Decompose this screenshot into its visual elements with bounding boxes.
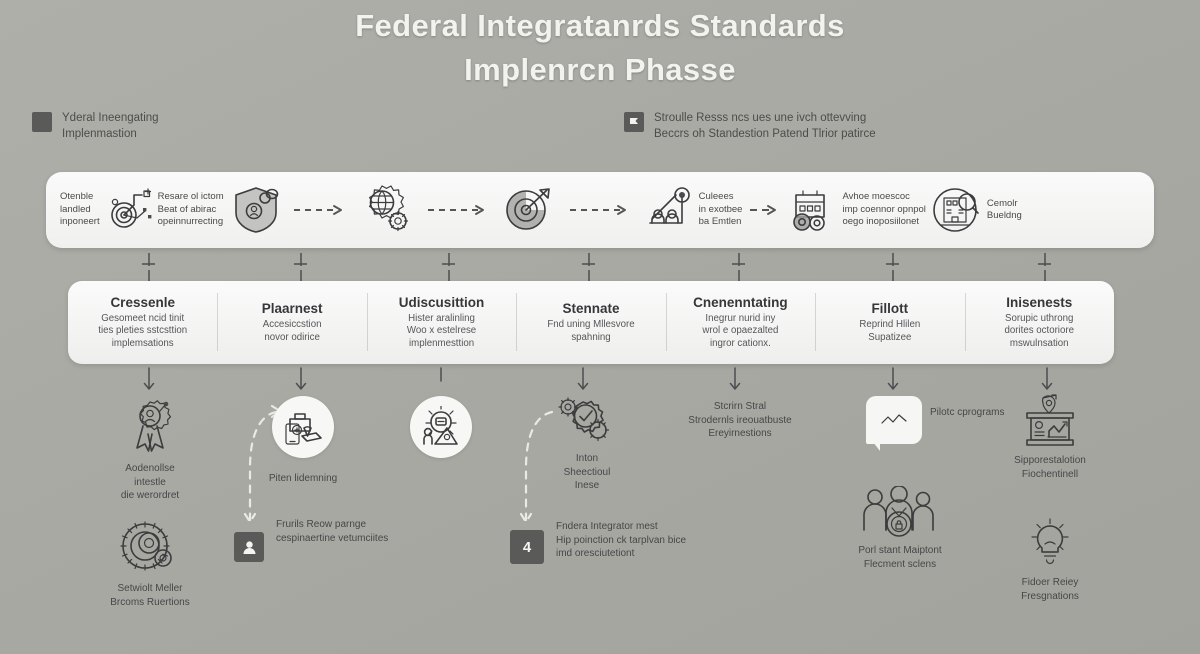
pipeline-label-15: Cemolr Bueldng	[987, 198, 1022, 223]
title-line-1: Federal Integratanrds Standards	[0, 4, 1200, 48]
phase-card[interactable]: Cressenle Gesomeet ncid tinit ties pleti…	[68, 281, 217, 364]
gears-cluster-icon	[100, 520, 200, 578]
chart-board-pin-icon	[998, 392, 1102, 450]
number-badge-icon[interactable]: 4	[510, 530, 544, 564]
node-briefcase[interactable]: Piten lidemning	[268, 396, 338, 486]
node-gearcheck-caption: Inton Sheectioul Inese	[558, 452, 616, 493]
dashed-arrow-icon	[568, 203, 632, 217]
pipeline-label-10: Culeees in exotbee ba Emtlen	[699, 191, 743, 229]
pipeline-icon-calendar-gears	[786, 185, 836, 235]
node-briefcase-caption: Piten lidemning	[268, 472, 338, 486]
title-line-2: Implenrcn Phasse	[0, 48, 1200, 92]
node-four-badge[interactable]: 4 Fndera Integrator mest Hip poinction c…	[510, 524, 686, 564]
phase-card[interactable]: Udiscusittion Hister aralinling Woo x es…	[367, 281, 516, 364]
node-bulb-caption: Fidoer Reiey Fresgnations	[1000, 576, 1100, 603]
tick-connector	[730, 252, 748, 282]
phase-card-desc: Hister aralinling Woo x estelrese implen…	[407, 313, 476, 351]
building-magnifier-icon	[930, 184, 982, 236]
node-four-badge-caption: Fndera Integrator mest Hip poinction ck …	[556, 520, 686, 561]
legend-left-line-1: Yderal Ineengating	[62, 110, 159, 126]
node-chart-pin-caption: Sipporestalotion Fiochentinell	[998, 454, 1102, 481]
pipeline-label-13: Avhoe moescoc imp coennor opnpol oego in…	[842, 191, 925, 229]
phase-card-title: Plaarnest	[262, 301, 323, 316]
phase-card-title: Udiscusittion	[399, 295, 485, 310]
calendar-gears-icon	[786, 185, 836, 235]
node-gears-caption: Setwiolt Meller Brcoms Ruertions	[100, 582, 200, 609]
pipeline-icon-target-dart	[504, 186, 554, 234]
presentation-people-icon	[646, 185, 694, 235]
legend-right: Stroulle Resss ncs ues une ivch ottevvin…	[624, 110, 876, 142]
short-arrow-icon	[748, 203, 780, 217]
node-bubble-caption: Pilotc cprograms	[930, 406, 1004, 420]
square-swatch-icon	[32, 112, 52, 132]
node-gears[interactable]: Setwiolt Meller Brcoms Ruertions	[100, 520, 200, 609]
tick-connector	[580, 252, 598, 282]
phase-card-desc: Reprind Hlilen Supatizee	[859, 319, 920, 344]
node-people-lock-caption: Porl stant Maiptont Flecment sclens	[846, 544, 954, 571]
tick-connector	[140, 252, 158, 282]
down-arrow-icon	[434, 367, 448, 393]
phase-card-desc: Gesomeet ncid tinit ties pleties sstcstt…	[98, 313, 187, 351]
number-badge-value: 4	[523, 539, 531, 556]
tick-connector	[884, 252, 902, 282]
legend-left-text: Yderal Ineengating Implenmastion	[62, 110, 159, 142]
node-bulb[interactable]: Fidoer Reiey Fresgnations	[1000, 518, 1100, 603]
lightbulb-icon	[1000, 518, 1100, 572]
node-award-caption: Aodenollse intestle die werordret	[110, 462, 190, 503]
phase-card[interactable]: Cnenenntating Inegrur nurid iny wrol e o…	[666, 281, 815, 364]
down-arrow-icon	[294, 367, 308, 393]
pipeline-icon-target-network	[104, 187, 156, 233]
globe-gear-icon	[358, 184, 412, 236]
gear-check-icon	[548, 396, 616, 450]
bug-meter-icon	[410, 396, 472, 458]
node-chart-pin[interactable]: Sipporestalotion Fiochentinell	[998, 392, 1102, 481]
briefcase-mobile-icon	[272, 396, 334, 458]
phase-card-desc: Sorupic uthrong dorites octoriore mswuln…	[1005, 313, 1074, 351]
down-arrow-icon	[142, 367, 156, 393]
node-person-badge-caption: Frurils Reow parnge cespinaertine vetumc…	[276, 518, 388, 545]
pipeline-icon-presentation-people	[646, 185, 694, 235]
down-arrow-icon	[728, 367, 742, 393]
phase-card[interactable]: Stennate Fnd uning Mllesvore spahning	[516, 281, 665, 364]
down-arrow-icon	[576, 367, 590, 393]
tick-connector	[440, 252, 458, 282]
phase-card-title: Inisenests	[1006, 295, 1072, 310]
flag-swatch-icon	[624, 112, 644, 132]
phase-card-desc: Fnd uning Mllesvore spahning	[547, 319, 634, 344]
legend-right-line-2: Beccrs oh Standestion Patend Tlrior pati…	[654, 126, 876, 142]
phase-card-title: Fillott	[871, 301, 908, 316]
node-gearcheck[interactable]: Inton Sheectioul Inese	[548, 396, 616, 493]
legend-right-line-1: Stroulle Resss ncs ues une ivch ottevvin…	[654, 110, 876, 126]
tick-connector	[1036, 252, 1054, 282]
shield-gear-people-icon	[230, 185, 282, 235]
people-shield-icon	[846, 486, 954, 540]
legend-left-line-2: Implenmastion	[62, 126, 159, 142]
pipeline-icon-globe-gear	[358, 184, 412, 236]
legend-left: Yderal Ineengating Implenmastion	[32, 110, 159, 142]
phase-card-desc: Accesiccstion novor odirice	[263, 319, 322, 344]
down-arrow-icon	[1040, 367, 1054, 393]
speech-bubble-icon	[866, 396, 922, 444]
node-textblock: Stcrirn Stral Strodernls ireouatbuste Er…	[660, 400, 820, 441]
phase-card[interactable]: Inisenests Sorupic uthrong dorites octor…	[965, 281, 1114, 364]
pipeline-label-text: Cemolr Bueldng	[987, 198, 1022, 223]
pipeline-icon-shield-gear-people	[230, 185, 282, 235]
tick-connector	[292, 252, 310, 282]
node-award[interactable]: Aodenollse intestle die werordret	[110, 396, 190, 503]
down-arrow-icon	[886, 367, 900, 393]
dashed-arrow-icon	[426, 203, 490, 217]
node-people-lock[interactable]: Porl stant Maiptont Flecment sclens	[846, 486, 954, 571]
dashed-arrow-icon	[292, 203, 348, 217]
node-textblock-caption: Stcrirn Stral Strodernls ireouatbuste Er…	[660, 400, 820, 441]
target-network-icon	[104, 187, 156, 233]
node-bugmeter[interactable]	[406, 396, 476, 458]
node-bubble[interactable]: Pilotc cprograms	[866, 396, 1004, 444]
phase-card[interactable]: Fillott Reprind Hlilen Supatizee	[815, 281, 964, 364]
pipeline-label-text: Avhoe moescoc imp coennor opnpol oego in…	[842, 191, 925, 229]
legend-right-text: Stroulle Resss ncs ues une ivch ottevvin…	[654, 110, 876, 142]
phase-card-title: Stennate	[562, 301, 619, 316]
pipeline-label-text: Culeees in exotbee ba Emtlen	[699, 191, 743, 229]
phase-cards-band: Cressenle Gesomeet ncid tinit ties pleti…	[68, 281, 1114, 364]
person-badge-icon	[234, 532, 264, 562]
phase-card-desc: Inegrur nurid iny wrol e opaezalted ingr…	[702, 313, 778, 351]
pipeline-label-0: Otenble landled inponeert	[60, 191, 100, 229]
node-person-badge[interactable]: Frurils Reow parnge cespinaertine vetumc…	[234, 528, 388, 562]
phase-card-title: Cressenle	[110, 295, 175, 310]
pipeline-band: Otenble landled inponeert Resare ol icto…	[46, 172, 1154, 248]
pipeline-icon-building-magnifier	[930, 184, 982, 236]
phase-card[interactable]: Plaarnest Accesiccstion novor odirice	[217, 281, 366, 364]
page-title: Federal Integratanrds Standards Implenrc…	[0, 4, 1200, 92]
award-ribbon-icon	[110, 396, 190, 458]
pipeline-label-text: Resare ol ictom Beat of abirac opeinnurr…	[158, 191, 224, 229]
pipeline-label-2: Resare ol ictom Beat of abirac opeinnurr…	[158, 191, 224, 229]
target-dart-icon	[504, 186, 554, 234]
pipeline-label-text: Otenble landled inponeert	[60, 191, 100, 229]
phase-card-title: Cnenenntating	[693, 295, 788, 310]
